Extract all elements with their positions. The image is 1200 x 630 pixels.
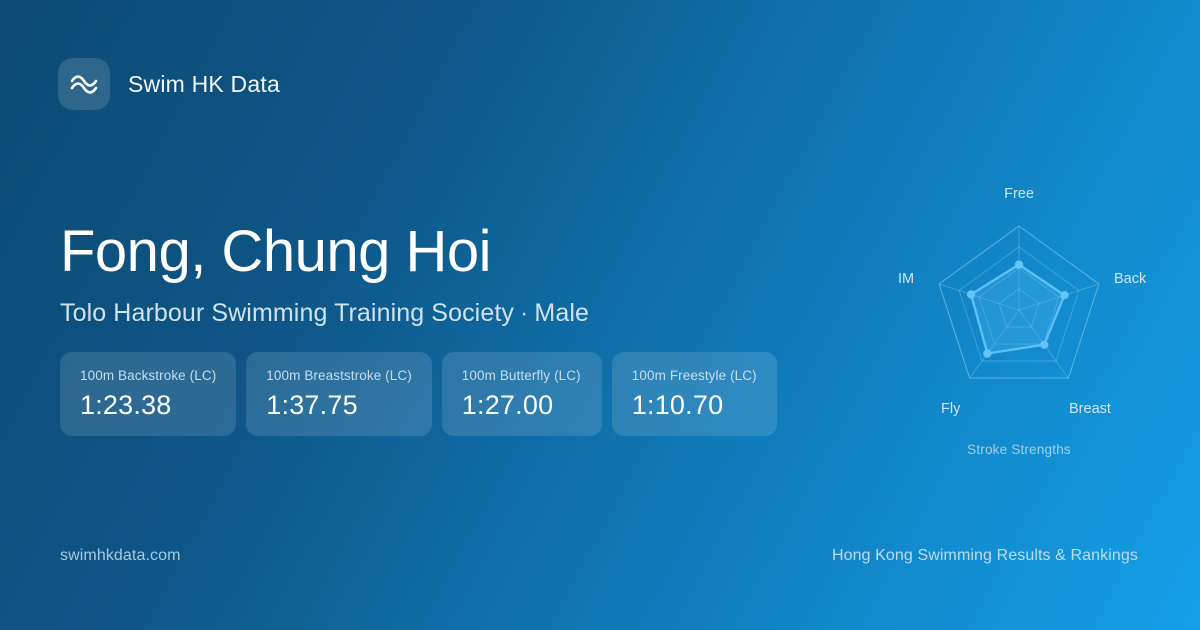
radar-caption: Stroke Strengths — [869, 442, 1169, 457]
wave-icon — [69, 73, 99, 95]
radar-label-free: Free — [1004, 186, 1034, 202]
stat-card-list: 100m Backstroke (LC) 1:23.38 100m Breast… — [60, 352, 777, 436]
stat-card-value: 1:23.38 — [80, 390, 216, 421]
stat-card-value: 1:37.75 — [266, 390, 412, 421]
athlete-gender: Male — [534, 299, 589, 327]
athlete-meta: Tolo Harbour Swimming Training Society·M… — [60, 299, 840, 328]
stat-card[interactable]: 100m Butterfly (LC) 1:27.00 — [442, 352, 602, 436]
stat-card[interactable]: 100m Freestyle (LC) 1:10.70 — [612, 352, 777, 436]
radar-label-back: Back — [1114, 271, 1146, 287]
meta-separator: · — [514, 299, 534, 327]
radar-label-fly: Fly — [941, 401, 960, 417]
stat-card[interactable]: 100m Breaststroke (LC) 1:37.75 — [246, 352, 432, 436]
stroke-strengths-radar: Free Back Breast Fly IM Stroke Strengths — [869, 170, 1169, 470]
stat-card[interactable]: 100m Backstroke (LC) 1:23.38 — [60, 352, 236, 436]
footer-tagline: Hong Kong Swimming Results & Rankings — [832, 547, 1138, 565]
stat-card-value: 1:27.00 — [462, 390, 582, 421]
page-title: Fong, Chung Hoi — [60, 222, 840, 283]
brand-header[interactable]: Swim HK Data — [58, 58, 280, 110]
stat-card-value: 1:10.70 — [632, 390, 757, 421]
athlete-hero: Fong, Chung Hoi Tolo Harbour Swimming Tr… — [60, 222, 840, 328]
stat-card-label: 100m Breaststroke (LC) — [266, 368, 412, 383]
radar-chart-svg — [869, 170, 1169, 470]
stat-card-label: 100m Freestyle (LC) — [632, 368, 757, 383]
stat-card-label: 100m Backstroke (LC) — [80, 368, 216, 383]
radar-series-area — [971, 265, 1064, 354]
brand-logo-tile — [58, 58, 110, 110]
brand-name: Swim HK Data — [128, 71, 280, 98]
radar-label-im: IM — [898, 271, 914, 287]
footer-site[interactable]: swimhkdata.com — [60, 547, 181, 565]
stat-card-label: 100m Butterfly (LC) — [462, 368, 582, 383]
athlete-club: Tolo Harbour Swimming Training Society — [60, 299, 514, 327]
radar-label-breast: Breast — [1069, 401, 1111, 417]
